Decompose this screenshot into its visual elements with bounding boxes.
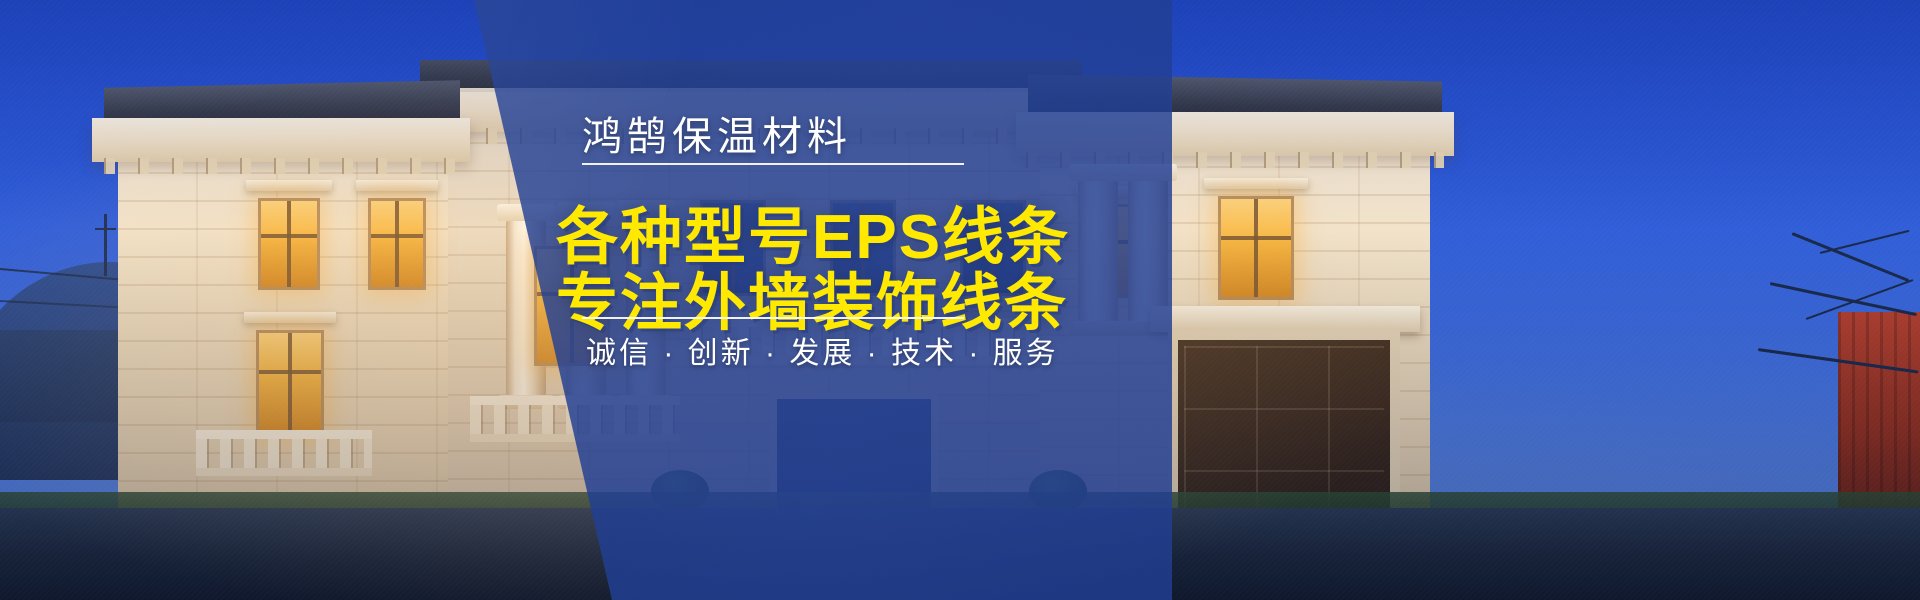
tagline: 诚信 · 创新 · 发展 · 技术 · 服务 xyxy=(586,328,1059,372)
promo-banner: 鸿鹄保温材料 各种型号EPS线条 专注外墙装饰线条 诚信 · 创新 · 发展 ·… xyxy=(0,0,1920,600)
divider-top xyxy=(582,163,964,165)
banner-content: 鸿鹄保温材料 各种型号EPS线条 专注外墙装饰线条 诚信 · 创新 · 发展 ·… xyxy=(0,0,1920,600)
divider-bottom xyxy=(582,317,964,319)
brand-name: 鸿鹄保温材料 xyxy=(582,104,852,162)
